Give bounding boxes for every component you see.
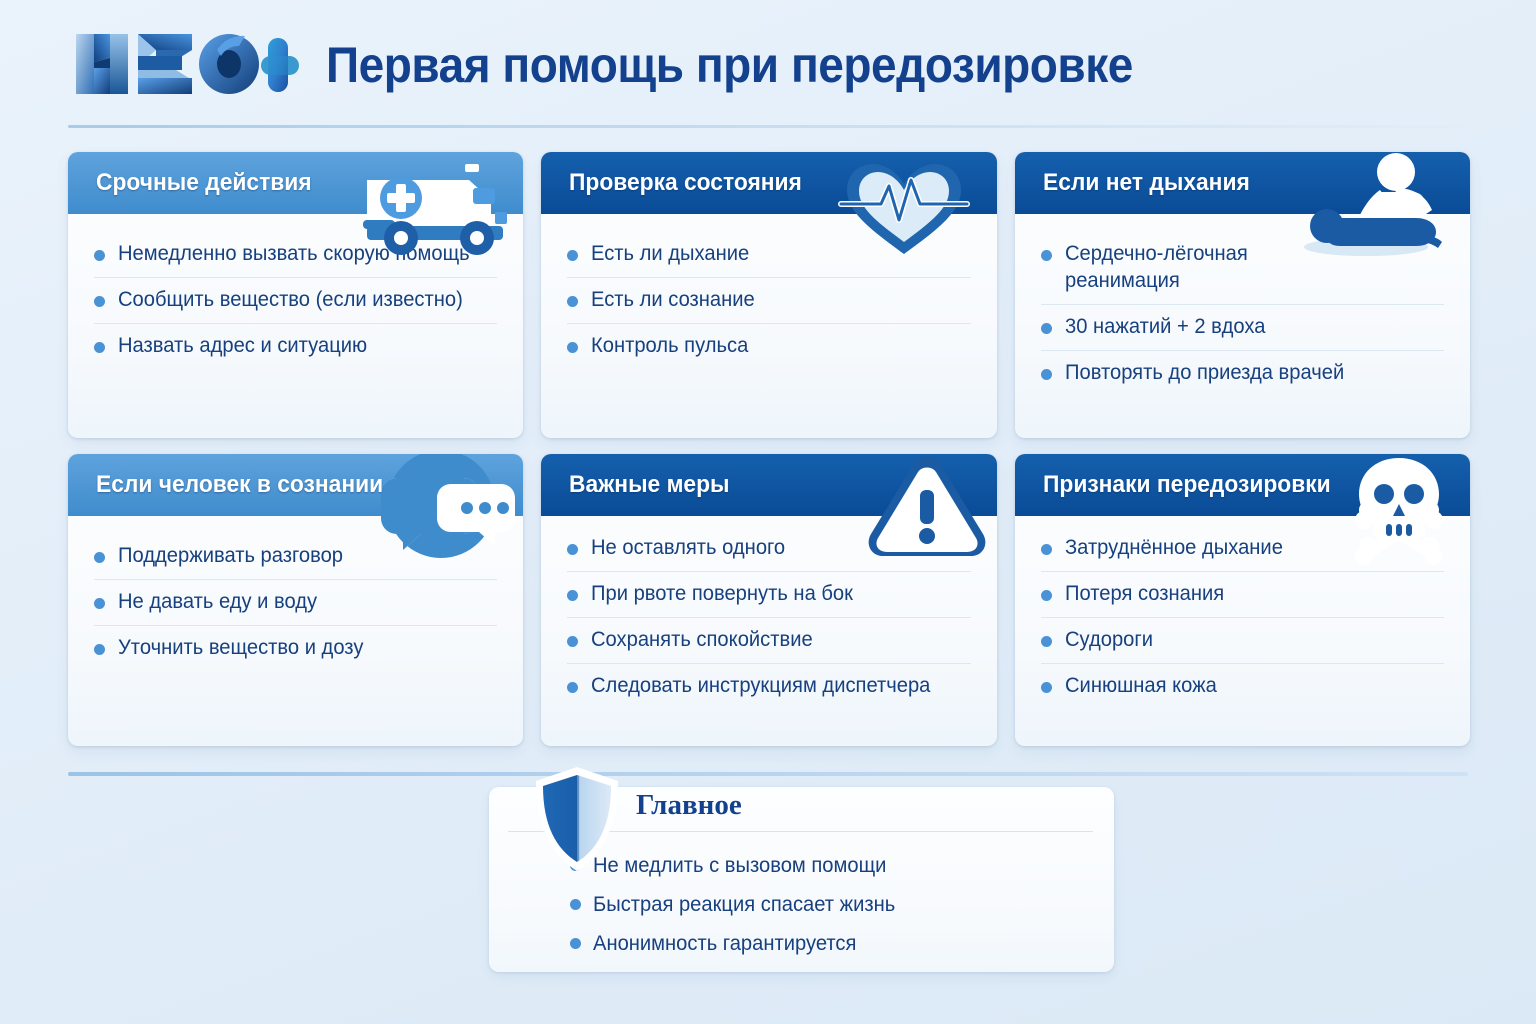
list-item[interactable]: Затруднённое дыхание [1041, 526, 1444, 572]
list-item-label: Синюшная кожа [1065, 673, 1217, 700]
bullet-dot [94, 552, 105, 563]
bullet-dot [94, 296, 105, 307]
list-item[interactable]: Быстрая реакция спасает жизнь [570, 885, 1110, 924]
list-item-label: Затруднённое дыхание [1065, 535, 1283, 562]
footer-divider [68, 772, 1468, 776]
bullet-dot [1041, 369, 1052, 380]
card-overdose-signs[interactable]: Признаки передозировки [1015, 454, 1470, 746]
list-item-label: Следовать инструкциям диспетчера [591, 673, 930, 700]
list-item-label: Немедленно вызвать скорую помощь [118, 241, 470, 268]
cards-row-1: Срочные действия [68, 152, 1470, 438]
list-item-label: Повторять до приезда врачей [1065, 360, 1344, 387]
list-item[interactable]: Есть ли дыхание [567, 232, 970, 278]
list-item-label: Не давать еду и воду [118, 589, 317, 616]
list-item-label: Анонимность гарантируется [593, 932, 856, 956]
list-item[interactable]: Не оставлять одного [567, 526, 970, 572]
card-title: Признаки передозировки [1043, 471, 1331, 499]
bullet-dot [1041, 544, 1052, 555]
page-header: Первая помощь при передозировке [0, 0, 1536, 130]
list-item-label: Не оставлять одного [591, 535, 785, 562]
card-no-breathing[interactable]: Если нет дыхания [1015, 152, 1470, 438]
list-item[interactable]: Немедленно вызвать скорую помощь [94, 232, 497, 278]
list-item[interactable]: Повторять до приезда врачей [1041, 351, 1444, 396]
list-item[interactable]: Не давать еду и воду [94, 580, 497, 626]
card-item-list: Не оставлять одного При рвоте повернуть … [541, 516, 996, 719]
list-item[interactable]: При рвоте повернуть на бок [567, 572, 970, 618]
list-item-label: Сохранять спокойствие [591, 627, 813, 654]
list-item-label: Сообщить вещество (если известно) [118, 287, 463, 314]
list-item-label: Не медлить с вызовом помощи [593, 854, 886, 878]
card-title: Проверка состояния [569, 169, 802, 197]
bullet-dot [567, 682, 578, 693]
list-item-label: Есть ли сознание [591, 287, 755, 314]
card-condition-check[interactable]: Проверка состояния Есть ли дыхание Есть … [541, 152, 996, 438]
card-item-list: Поддерживать разговор Не давать еду и во… [68, 516, 523, 681]
bullet-dot [94, 250, 105, 261]
infographic-page: Первая помощь при передозировке Срочные … [0, 0, 1536, 1024]
list-item[interactable]: Судороги [1041, 618, 1444, 664]
header-divider [68, 125, 1468, 128]
bullet-dot [1041, 590, 1052, 601]
list-item-label: 30 нажатий + 2 вдоха [1065, 314, 1265, 341]
card-item-list: Сердечно-лёгочная реанимация 30 нажатий … [1015, 214, 1470, 406]
shield-icon [532, 765, 622, 873]
card-title: Важные меры [569, 471, 730, 499]
list-item[interactable]: Контроль пульса [567, 324, 970, 369]
list-item[interactable]: Поддерживать разговор [94, 534, 497, 580]
list-item-label: Быстрая реакция спасает жизнь [593, 893, 895, 917]
card-important-measures[interactable]: Важные меры Не оставлять одного При рвот… [541, 454, 996, 746]
list-item[interactable]: Анонимность гарантируется [570, 924, 1110, 963]
card-person-conscious[interactable]: Если человек в сознании [68, 454, 523, 746]
page-title: Первая помощь при передозировке [326, 36, 1133, 94]
card-item-list: Немедленно вызвать скорую помощь Сообщит… [68, 214, 523, 379]
list-item[interactable]: Следовать инструкциям диспетчера [567, 664, 970, 709]
list-item[interactable]: Уточнить вещество и дозу [94, 626, 497, 671]
bullet-dot [567, 296, 578, 307]
card-urgent-actions[interactable]: Срочные действия [68, 152, 523, 438]
bullet-dot [94, 342, 105, 353]
list-item[interactable]: Синюшная кожа [1041, 664, 1444, 709]
bullet-dot [567, 544, 578, 555]
card-title: Если нет дыхания [1043, 169, 1250, 197]
bullet-dot [567, 590, 578, 601]
card-item-list: Есть ли дыхание Есть ли сознание Контрол… [541, 214, 996, 379]
list-item-label: Судороги [1065, 627, 1153, 654]
list-item[interactable]: Сообщить вещество (если известно) [94, 278, 497, 324]
card-header: Проверка состояния [541, 152, 996, 214]
cards-row-2: Если человек в сознании [68, 454, 1470, 746]
list-item-label: При рвоте повернуть на бок [591, 581, 853, 608]
neo-plus-logo [72, 28, 302, 100]
bullet-dot [570, 899, 581, 910]
list-item-label: Назвать адрес и ситуацию [118, 333, 367, 360]
bullet-dot [1041, 323, 1052, 334]
list-item-label: Контроль пульса [591, 333, 748, 360]
card-title: Если человек в сознании [96, 471, 383, 499]
card-title: Срочные действия [96, 169, 312, 197]
bullet-dot [567, 342, 578, 353]
bullet-dot [1041, 250, 1052, 261]
list-item-label: Сердечно-лёгочная реанимация [1065, 241, 1295, 295]
list-item-label: Потеря сознания [1065, 581, 1224, 608]
list-item[interactable]: Сохранять спокойствие [567, 618, 970, 664]
cards-grid: Срочные действия [68, 152, 1470, 746]
summary-list: Не медлить с вызовом помощи Быстрая реак… [570, 846, 1110, 963]
summary-title: Главное [636, 789, 742, 822]
card-header: Срочные действия [68, 152, 523, 214]
card-header: Если человек в сознании [68, 454, 523, 516]
card-header: Важные меры [541, 454, 996, 516]
card-header: Признаки передозировки [1015, 454, 1470, 516]
list-item-label: Уточнить вещество и дозу [118, 635, 363, 662]
bullet-dot [94, 598, 105, 609]
bullet-dot [567, 636, 578, 647]
bullet-dot [94, 644, 105, 655]
card-item-list: Затруднённое дыхание Потеря сознания Суд… [1015, 516, 1470, 719]
bullet-dot [570, 938, 581, 949]
bullet-dot [1041, 682, 1052, 693]
list-item[interactable]: 30 нажатий + 2 вдоха [1041, 305, 1444, 351]
card-header: Если нет дыхания [1015, 152, 1470, 214]
list-item[interactable]: Потеря сознания [1041, 572, 1444, 618]
bullet-dot [567, 250, 578, 261]
list-item[interactable]: Есть ли сознание [567, 278, 970, 324]
list-item[interactable]: Не медлить с вызовом помощи [570, 846, 1110, 885]
bullet-dot [1041, 636, 1052, 647]
list-item-label: Есть ли дыхание [591, 241, 749, 268]
list-item[interactable]: Сердечно-лёгочная реанимация [1041, 232, 1444, 305]
list-item[interactable]: Назвать адрес и ситуацию [94, 324, 497, 369]
list-item-label: Поддерживать разговор [118, 543, 343, 570]
